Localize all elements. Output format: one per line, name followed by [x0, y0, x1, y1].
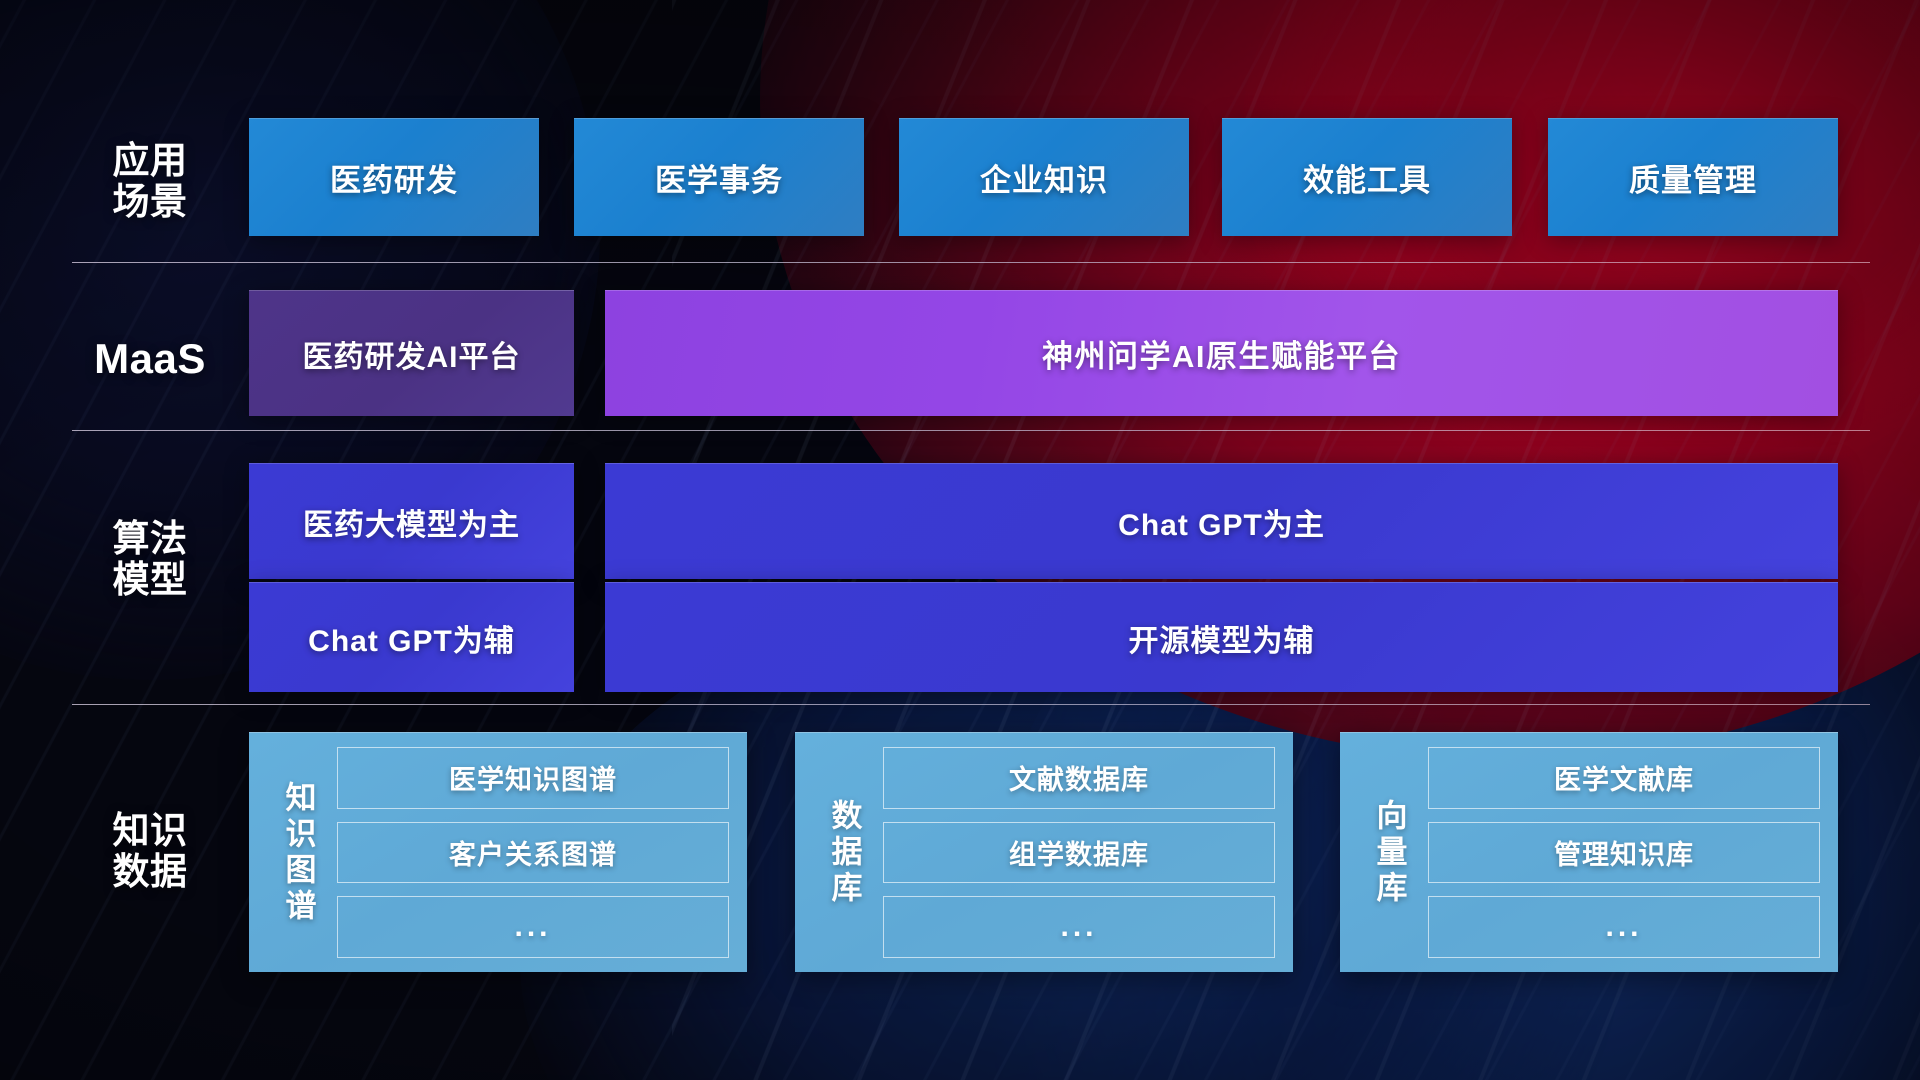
app-scenario-box-2[interactable]: 医学事务 — [574, 118, 864, 236]
row-label-line-1: 算法 — [55, 518, 245, 559]
knowledge-item[interactable]: 文献数据库 — [883, 747, 1275, 809]
app-scenario-box-3[interactable]: 企业知识 — [899, 118, 1189, 236]
knowledge-item-more[interactable]: ... — [1428, 896, 1820, 958]
app-scenario-box-4[interactable]: 效能工具 — [1222, 118, 1512, 236]
knowledge-group-items: 文献数据库 组学数据库 ... — [883, 747, 1275, 958]
row-label-line-1: 知识 — [55, 810, 245, 851]
app-scenario-box-1[interactable]: 医药研发 — [249, 118, 539, 236]
knowledge-item-more[interactable]: ... — [883, 896, 1275, 958]
knowledge-group-items: 医学文献库 管理知识库 ... — [1428, 747, 1820, 958]
knowledge-item[interactable]: 医学文献库 — [1428, 747, 1820, 809]
knowledge-group-database[interactable]: 数据库 文献数据库 组学数据库 ... — [795, 732, 1293, 972]
knowledge-group-items: 医学知识图谱 客户关系图谱 ... — [337, 747, 729, 958]
algo-box-chatgpt-secondary[interactable]: Chat GPT为辅 — [249, 582, 574, 692]
knowledge-group-vector-store[interactable]: 向量库 医学文献库 管理知识库 ... — [1340, 732, 1838, 972]
maas-platform-box-shenzhou[interactable]: 神州问学AI原生赋能平台 — [605, 290, 1838, 416]
row-label-maas: MaaS — [55, 335, 245, 382]
app-scenario-box-5[interactable]: 质量管理 — [1548, 118, 1838, 236]
knowledge-group-vertical-label: 数据库 — [805, 747, 883, 958]
divider-3 — [72, 704, 1870, 705]
knowledge-item[interactable]: 组学数据库 — [883, 822, 1275, 884]
row-label-line-2: 数据 — [55, 851, 245, 892]
row-label-algorithm-models: 算法 模型 — [55, 518, 245, 601]
algo-box-chatgpt-primary[interactable]: Chat GPT为主 — [605, 463, 1838, 579]
knowledge-item[interactable]: 医学知识图谱 — [337, 747, 729, 809]
maas-platform-box-medical[interactable]: 医药研发AI平台 — [249, 290, 574, 416]
knowledge-group-vertical-label: 知识图谱 — [259, 747, 337, 958]
knowledge-group-vertical-label: 向量库 — [1350, 747, 1428, 958]
divider-2 — [72, 430, 1870, 431]
knowledge-item[interactable]: 客户关系图谱 — [337, 822, 729, 884]
knowledge-item[interactable]: 管理知识库 — [1428, 822, 1820, 884]
algo-box-opensource-secondary[interactable]: 开源模型为辅 — [605, 582, 1838, 692]
knowledge-item-more[interactable]: ... — [337, 896, 729, 958]
row-label-line-2: 场景 — [55, 181, 245, 222]
row-label-line-1: 应用 — [55, 140, 245, 181]
row-label-line-2: 模型 — [55, 559, 245, 600]
row-label-application-scenarios: 应用 场景 — [55, 140, 245, 223]
architecture-diagram: 应用 场景 医药研发 医学事务 企业知识 效能工具 质量管理 MaaS 医药研发… — [0, 0, 1920, 1080]
row-label-knowledge-data: 知识 数据 — [55, 810, 245, 893]
knowledge-group-knowledge-graph[interactable]: 知识图谱 医学知识图谱 客户关系图谱 ... — [249, 732, 747, 972]
algo-box-medical-primary[interactable]: 医药大模型为主 — [249, 463, 574, 579]
divider-1 — [72, 262, 1870, 263]
